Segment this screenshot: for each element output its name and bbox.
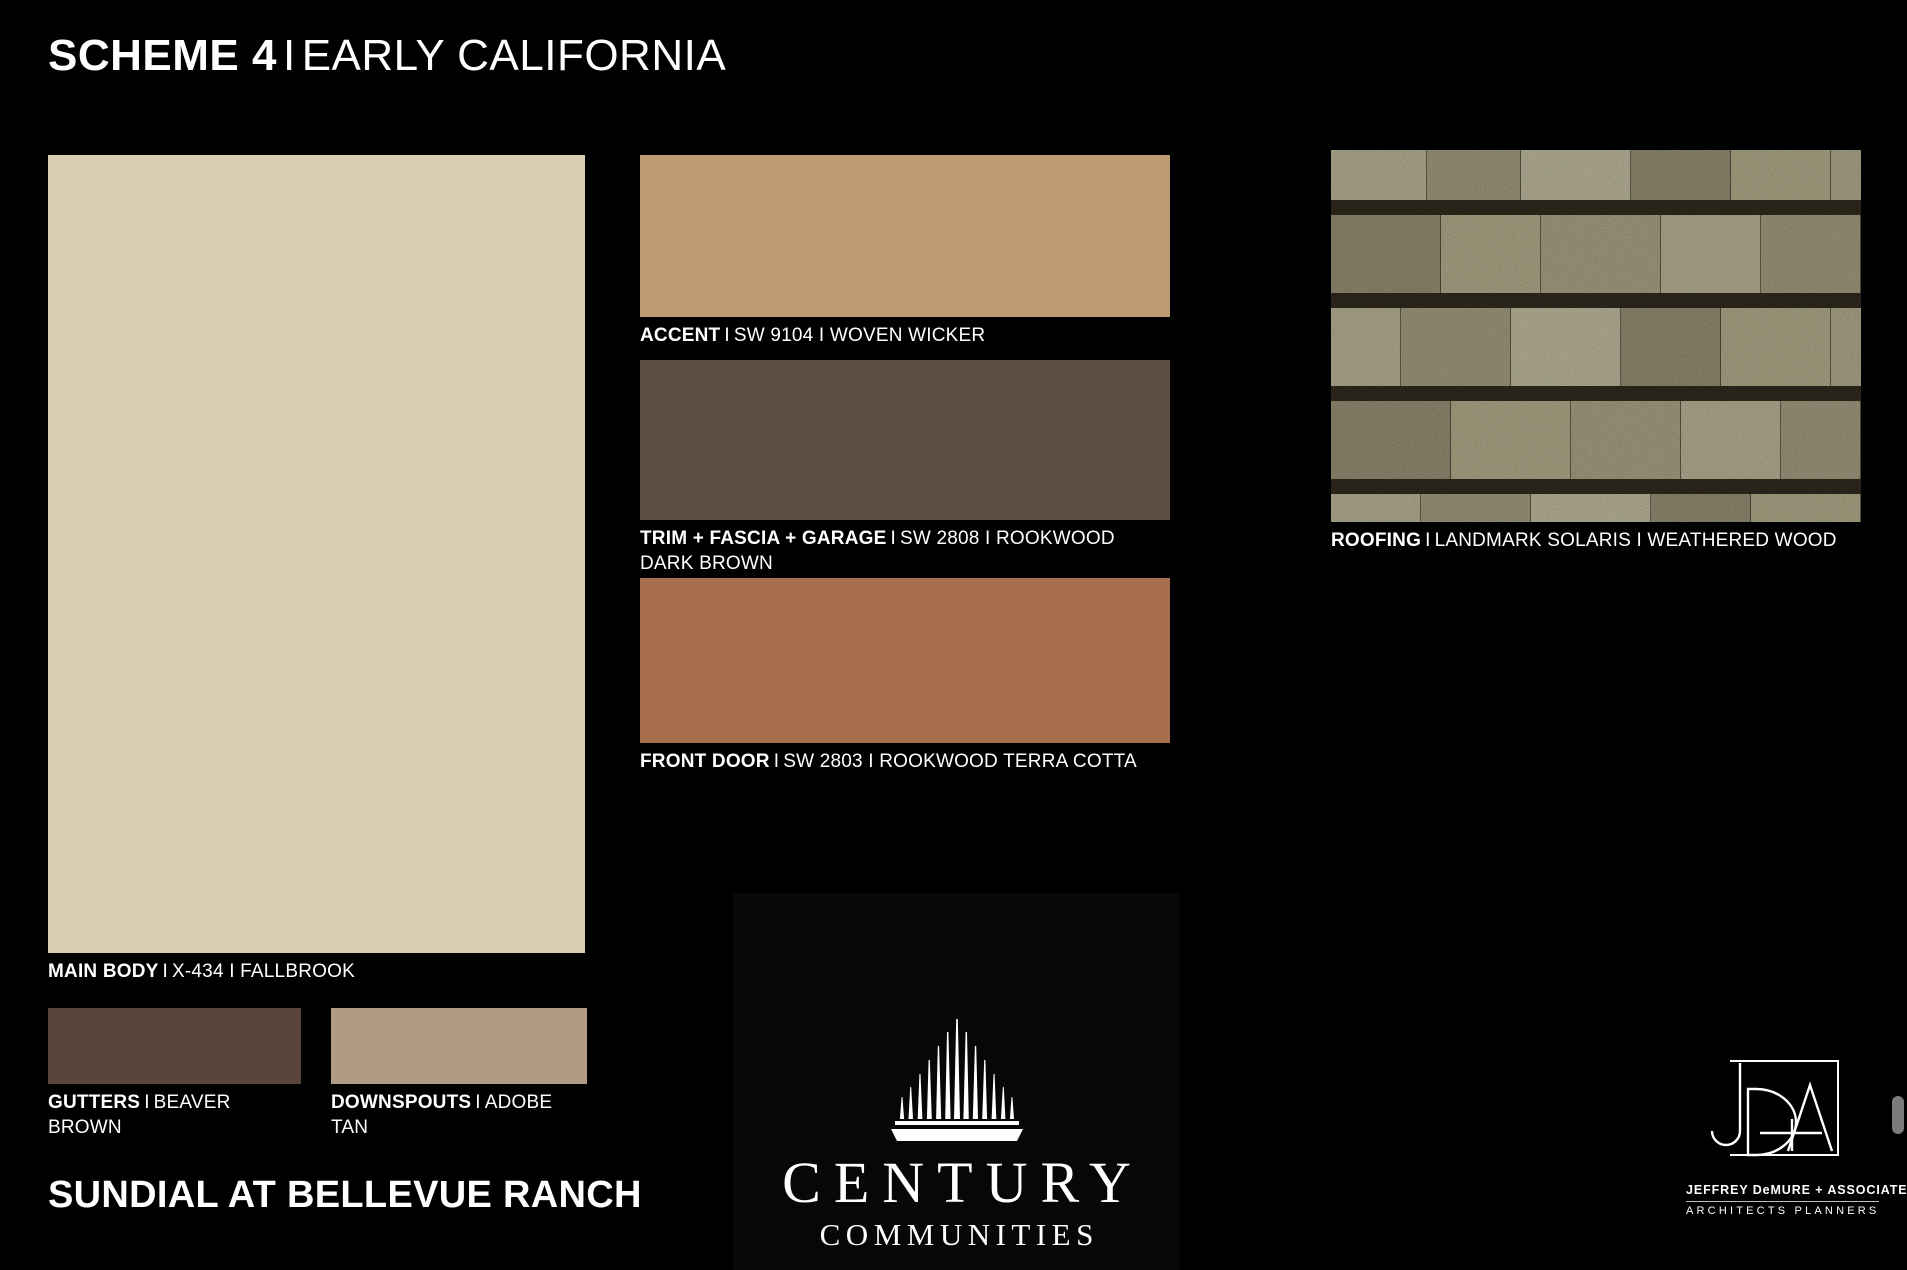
swatch-label-trim: TRIM + FASCIA + GARAGEISW 2808 I ROOKWOO…: [640, 526, 1170, 576]
jda-firm-name: JEFFREY DeMURE + ASSOCIATES: [1686, 1184, 1866, 1198]
century-wordmark: CENTURY: [769, 1153, 1144, 1214]
swatch-value-roofing: LANDMARK SOLARIS I WEATHERED WOOD: [1435, 530, 1837, 551]
architect-logo-jda: JEFFREY DeMURE + ASSOCIATES ARCHITECTS P…: [1686, 1055, 1866, 1225]
scheme-number-label: SCHEME 4: [48, 31, 277, 80]
swatch-separator-roofing: I: [1421, 530, 1434, 551]
builder-logo-century-communities: CENTURY COMMUNITIES: [733, 893, 1180, 1270]
project-name: SUNDIAL AT BELLEVUE RANCH: [48, 1175, 642, 1217]
swatch-key-trim: TRIM + FASCIA + GARAGE: [640, 528, 887, 549]
swatch-group-trim: TRIM + FASCIA + GARAGEISW 2808 I ROOKWOO…: [640, 360, 1170, 576]
swatch-label-roofing: ROOFINGILANDMARK SOLARIS I WEATHERED WOO…: [1331, 528, 1861, 553]
swatch-label-downspouts: DOWNSPOUTSIADOBE TAN: [331, 1090, 587, 1140]
shingle-granule-texture: [1331, 150, 1861, 522]
swatch-label-gutters: GUTTERSIBEAVER BROWN: [48, 1090, 301, 1140]
swatch-label-front-door: FRONT DOORISW 2803 I ROOKWOOD TERRA COTT…: [640, 749, 1170, 774]
century-building-icon: [867, 1015, 1047, 1143]
swatch-key-accent: ACCENT: [640, 325, 720, 346]
swatch-separator-front-door: I: [770, 751, 783, 772]
swatch-group-accent: ACCENTISW 9104 I WOVEN WICKER: [640, 155, 1170, 348]
page-title: SCHEME 4IEARLY CALIFORNIA: [48, 34, 726, 78]
swatch-label-accent: ACCENTISW 9104 I WOVEN WICKER: [640, 323, 1170, 348]
material-sample-roofing-shingle: [1331, 150, 1861, 522]
swatch-value-front-door: SW 2803 I ROOKWOOD TERRA COTTA: [783, 751, 1137, 772]
swatch-group-front-door: FRONT DOORISW 2803 I ROOKWOOD TERRA COTT…: [640, 578, 1170, 774]
color-swatch-downspouts: [331, 1008, 587, 1084]
swatch-separator-downspouts: I: [471, 1092, 484, 1113]
swatch-label-main-body: MAIN BODYIX-434 I FALLBROOK: [48, 959, 585, 984]
swatch-group-gutters: GUTTERSIBEAVER BROWN: [48, 1008, 301, 1140]
color-swatch-gutters: [48, 1008, 301, 1084]
swatch-key-main-body: MAIN BODY: [48, 961, 159, 982]
swatch-group-main-body: MAIN BODYIX-434 I FALLBROOK: [48, 155, 585, 984]
swatch-key-gutters: GUTTERS: [48, 1092, 140, 1113]
swatch-key-front-door: FRONT DOOR: [640, 751, 770, 772]
swatch-value-accent: SW 9104 I WOVEN WICKER: [734, 325, 985, 346]
scheme-name-label: EARLY CALIFORNIA: [302, 31, 727, 80]
swatch-value-main-body: X-434 I FALLBROOK: [172, 961, 355, 982]
swatch-group-roofing: ROOFINGILANDMARK SOLARIS I WEATHERED WOO…: [1331, 150, 1861, 553]
color-swatch-front-door: [640, 578, 1170, 743]
swatch-separator-accent: I: [720, 325, 733, 346]
color-swatch-main-body: [48, 155, 585, 953]
swatch-separator-gutters: I: [140, 1092, 153, 1113]
jda-discipline-line: ARCHITECTS PLANNERS: [1686, 1201, 1879, 1217]
vertical-scrollbar-thumb[interactable]: [1892, 1096, 1904, 1134]
color-swatch-trim: [640, 360, 1170, 520]
swatch-key-downspouts: DOWNSPOUTS: [331, 1092, 471, 1113]
swatch-separator-main-body: I: [159, 961, 172, 982]
swatch-group-downspouts: DOWNSPOUTSIADOBE TAN: [331, 1008, 587, 1140]
jda-monogram-icon: [1692, 1055, 1844, 1177]
color-swatch-accent: [640, 155, 1170, 317]
title-separator: I: [277, 31, 302, 80]
swatch-separator-trim: I: [887, 528, 900, 549]
century-subword: COMMUNITIES: [814, 1218, 1099, 1252]
swatch-key-roofing: ROOFING: [1331, 530, 1421, 551]
